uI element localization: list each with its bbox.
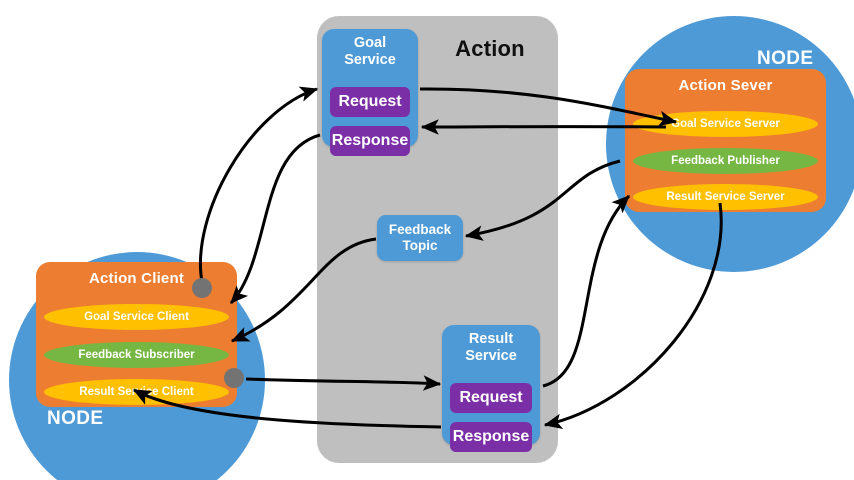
result-service-box[interactable]: Result Service Request Response bbox=[442, 325, 540, 445]
goal-service-client-connector-dot bbox=[192, 278, 212, 298]
result-service-client-pill[interactable]: Result Service Client bbox=[44, 379, 229, 405]
feedback-topic-label: Feedback Topic bbox=[389, 222, 451, 254]
result-service-title: Result Service bbox=[442, 325, 540, 365]
server-node-label: NODE bbox=[757, 48, 814, 70]
result-service-client-connector-dot bbox=[224, 368, 244, 388]
arrow-goal-response-to-client bbox=[231, 135, 320, 303]
action-server-title: Action Sever bbox=[625, 69, 826, 94]
action-panel-title: Action bbox=[430, 36, 550, 62]
result-service-response[interactable]: Response bbox=[450, 422, 532, 452]
action-server-block[interactable]: Action Sever Goal Service Server Feedbac… bbox=[625, 69, 826, 212]
goal-service-title-line2: Service bbox=[344, 52, 396, 68]
feedback-topic-line1: Feedback bbox=[389, 222, 451, 237]
arrow-goal-client-to-request bbox=[200, 89, 317, 282]
diagram-canvas: Action Goal Service Request Response Fee… bbox=[0, 0, 854, 480]
feedback-topic-box[interactable]: Feedback Topic bbox=[377, 215, 463, 261]
result-service-title-line1: Result bbox=[469, 331, 513, 347]
feedback-publisher-pill[interactable]: Feedback Publisher bbox=[633, 148, 818, 174]
client-node-label: NODE bbox=[47, 408, 104, 430]
result-service-request[interactable]: Request bbox=[450, 383, 532, 413]
goal-service-client-pill[interactable]: Goal Service Client bbox=[44, 304, 229, 330]
goal-service-box[interactable]: Goal Service Request Response bbox=[322, 29, 418, 147]
goal-service-response[interactable]: Response bbox=[330, 126, 410, 156]
feedback-topic-line2: Topic bbox=[403, 238, 438, 253]
goal-service-request[interactable]: Request bbox=[330, 87, 410, 117]
goal-service-title: Goal Service bbox=[322, 29, 418, 69]
result-service-title-line2: Service bbox=[465, 348, 517, 364]
feedback-subscriber-pill[interactable]: Feedback Subscriber bbox=[44, 342, 229, 368]
result-service-server-pill[interactable]: Result Service Server bbox=[633, 184, 818, 210]
goal-service-title-line1: Goal bbox=[354, 35, 386, 51]
goal-service-server-pill[interactable]: Goal Service Server bbox=[633, 111, 818, 137]
